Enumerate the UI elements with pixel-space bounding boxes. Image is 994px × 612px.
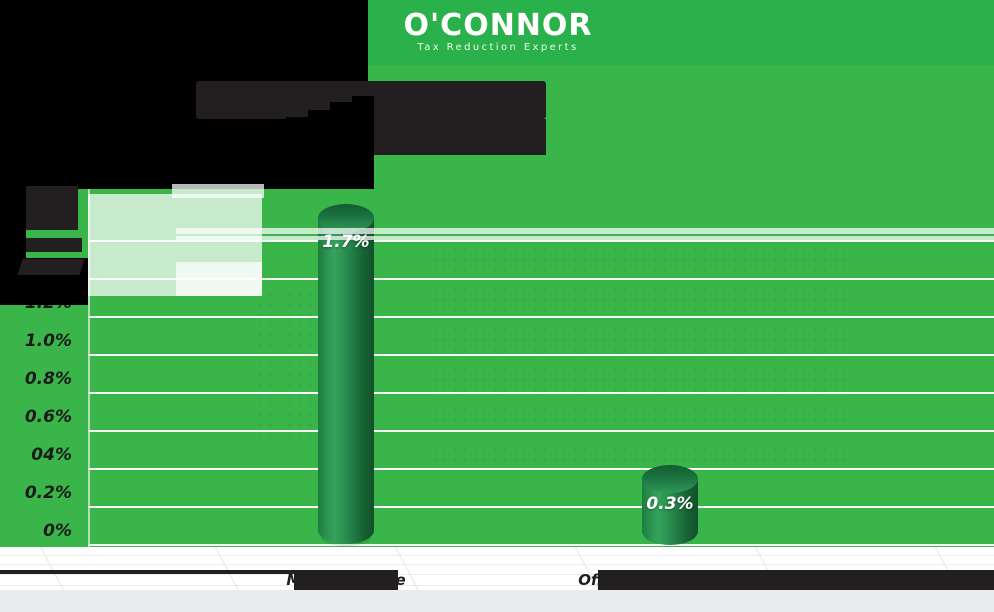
- redaction-step-3: [220, 143, 242, 189]
- y-tick-label-4: 0.6%: [0, 407, 72, 427]
- redaction-xlabel-2: [598, 570, 994, 590]
- redaction-y-tick-block-a: [26, 186, 78, 230]
- y-tick-label-3: 0.8%: [0, 369, 72, 389]
- logo-tagline: Tax Reduction Experts: [417, 41, 578, 55]
- redaction-pale-strip-a: [172, 184, 264, 198]
- redaction-step-9: [352, 96, 374, 189]
- chart-screenshot: O'CONNOR Tax Reduction Experts 1.2% 1.0%…: [0, 0, 994, 612]
- bar-2-top-ellipse: [642, 465, 698, 493]
- redaction-xlabel-1: [294, 570, 398, 590]
- oconnor-logo: O'CONNOR Tax Reduction Experts: [398, 6, 598, 60]
- redaction-step-4: [242, 136, 264, 189]
- redaction-step-8: [330, 102, 352, 189]
- redaction-step-7: [308, 110, 330, 189]
- bar-office-bldg-low-rise[interactable]: 0.3%: [642, 465, 698, 547]
- gridline-3: [88, 316, 994, 318]
- redaction-pale-strip-c: [176, 236, 994, 240]
- redaction-y-tick-block-c: [17, 259, 84, 275]
- bar-2-value-label: 0.3%: [642, 494, 698, 514]
- footer-strip: [0, 590, 994, 612]
- logo-wordmark: O'CONNOR: [403, 11, 592, 41]
- bar-1-value-label: 1.7%: [318, 232, 374, 252]
- y-tick-label-6: 0.2%: [0, 483, 72, 503]
- gridline-6: [88, 430, 994, 432]
- redaction-bottom-rule: [0, 570, 294, 574]
- redaction-pale-strip-d: [176, 262, 262, 296]
- gridline-7: [88, 468, 994, 470]
- redaction-step-5: [264, 128, 286, 189]
- gridline-baseline: [88, 544, 994, 546]
- gridline-5: [88, 392, 994, 394]
- y-tick-label-2: 1.0%: [0, 331, 72, 351]
- gridline-8: [88, 506, 994, 508]
- gridline-4: [88, 354, 994, 356]
- y-tick-label-5: 04%: [0, 445, 72, 465]
- redaction-step-6: [286, 117, 308, 189]
- bar-1-body: [318, 218, 374, 544]
- y-tick-label-7: 0%: [0, 521, 72, 541]
- redaction-pale-strip-b: [176, 228, 994, 234]
- redaction-y-tick-block-b: [26, 238, 82, 252]
- bar-medical-office[interactable]: 1.7%: [318, 204, 374, 544]
